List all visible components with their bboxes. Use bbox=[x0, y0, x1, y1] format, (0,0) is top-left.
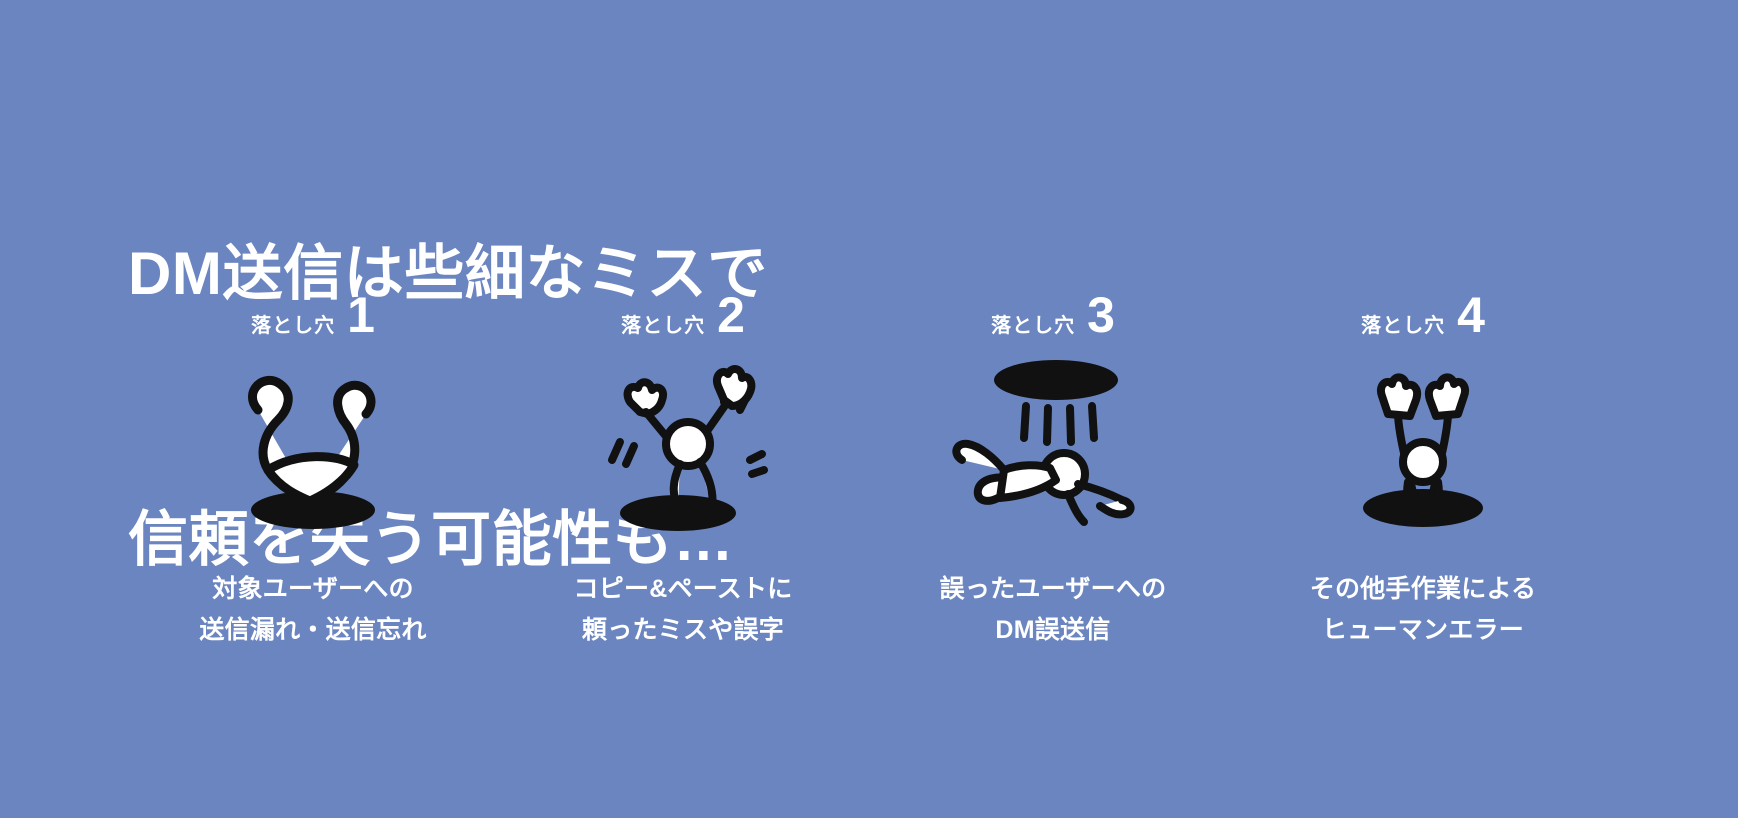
pitfall-caption-4: その他手作業による ヒューマンエラー bbox=[1310, 569, 1537, 650]
legs-sticking-out-of-hole-icon bbox=[198, 358, 428, 543]
pitfall-caption-4-line-1: その他手作業による bbox=[1310, 569, 1537, 610]
pitfall-label-4: 落とし穴 4 bbox=[1361, 290, 1485, 350]
pitfall-label-text-4: 落とし穴 bbox=[1361, 309, 1445, 342]
pitfall-caption-1-line-1: 対象ユーザーへの bbox=[199, 569, 426, 610]
pitfall-label-number-4: 4 bbox=[1457, 290, 1485, 340]
pitfall-label-3: 落とし穴 3 bbox=[991, 290, 1115, 350]
pitfall-card-list: 落とし穴 1 対象ユーザーへの 送信漏れ・送信忘れ 落とし穴 2 bbox=[128, 290, 1610, 650]
person-arms-up-falling-into-hole-icon bbox=[568, 358, 798, 543]
pitfall-label-2: 落とし穴 2 bbox=[621, 290, 745, 350]
pitfall-card-2: 落とし穴 2 bbox=[498, 290, 868, 650]
pitfall-caption-3-line-1: 誤ったユーザーへの bbox=[940, 569, 1167, 610]
pitfall-label-number-2: 2 bbox=[717, 290, 745, 340]
pitfall-label-text-1: 落とし穴 bbox=[251, 309, 335, 342]
person-falling-from-hole-above-icon bbox=[938, 358, 1168, 543]
pitfall-label-text-2: 落とし穴 bbox=[621, 309, 705, 342]
pitfall-caption-1-line-2: 送信漏れ・送信忘れ bbox=[199, 610, 426, 651]
pitfall-card-3: 落とし穴 3 bbox=[868, 290, 1238, 650]
pitfall-caption-1: 対象ユーザーへの 送信漏れ・送信忘れ bbox=[199, 569, 426, 650]
pitfall-label-number-1: 1 bbox=[347, 290, 375, 340]
pitfall-caption-3: 誤ったユーザーへの DM誤送信 bbox=[940, 569, 1167, 650]
pitfall-caption-4-line-2: ヒューマンエラー bbox=[1310, 610, 1537, 651]
pitfall-caption-3-line-2: DM誤送信 bbox=[940, 610, 1167, 651]
pitfall-caption-2-line-1: コピー&ペーストに bbox=[573, 569, 792, 610]
pitfall-card-1: 落とし穴 1 対象ユーザーへの 送信漏れ・送信忘れ bbox=[128, 290, 498, 650]
pitfall-card-4: 落とし穴 4 その他手作業による ヒューマンエラー bbox=[1238, 290, 1608, 650]
pitfall-label-number-3: 3 bbox=[1087, 290, 1115, 340]
pitfall-caption-2-line-2: 頼ったミスや誤字 bbox=[573, 610, 792, 651]
person-sinking-into-hole-arms-raised-icon bbox=[1308, 358, 1538, 543]
slide-canvas: DM送信は些細なミスで 信頼を失う可能性も… 落とし穴 1 対象ユーザーへの 送… bbox=[0, 0, 1738, 818]
pitfall-caption-2: コピー&ペーストに 頼ったミスや誤字 bbox=[573, 569, 792, 650]
pitfall-label-1: 落とし穴 1 bbox=[251, 290, 375, 350]
pitfall-label-text-3: 落とし穴 bbox=[991, 309, 1075, 342]
